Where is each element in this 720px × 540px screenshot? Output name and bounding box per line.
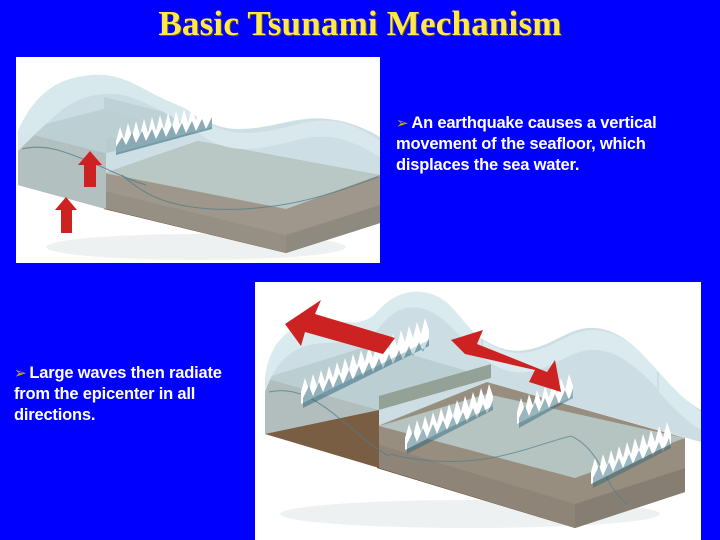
seafloor-uplift-diagram: [16, 57, 380, 263]
arrow-bullet-icon: ➢: [396, 114, 408, 132]
bullet-radiate: ➢Large waves then radiate from the epice…: [14, 363, 229, 426]
red-up-arrow-small: [55, 197, 77, 233]
bullet-earthquake: ➢An earthquake causes a vertical movemen…: [396, 113, 696, 176]
illustration-seafloor-uplift: [16, 57, 380, 263]
illustration-waves-radiating: [255, 282, 701, 540]
page-title: Basic Tsunami Mechanism: [0, 4, 720, 44]
bullet-earthquake-text: An earthquake causes a vertical movement…: [396, 114, 656, 174]
slide-canvas: Basic Tsunami Mechanism: [0, 0, 720, 540]
waves-radiating-diagram: [255, 282, 701, 540]
bullet-radiate-text: Large waves then radiate from the epicen…: [14, 364, 222, 424]
arrow-bullet-icon: ➢: [14, 364, 26, 382]
